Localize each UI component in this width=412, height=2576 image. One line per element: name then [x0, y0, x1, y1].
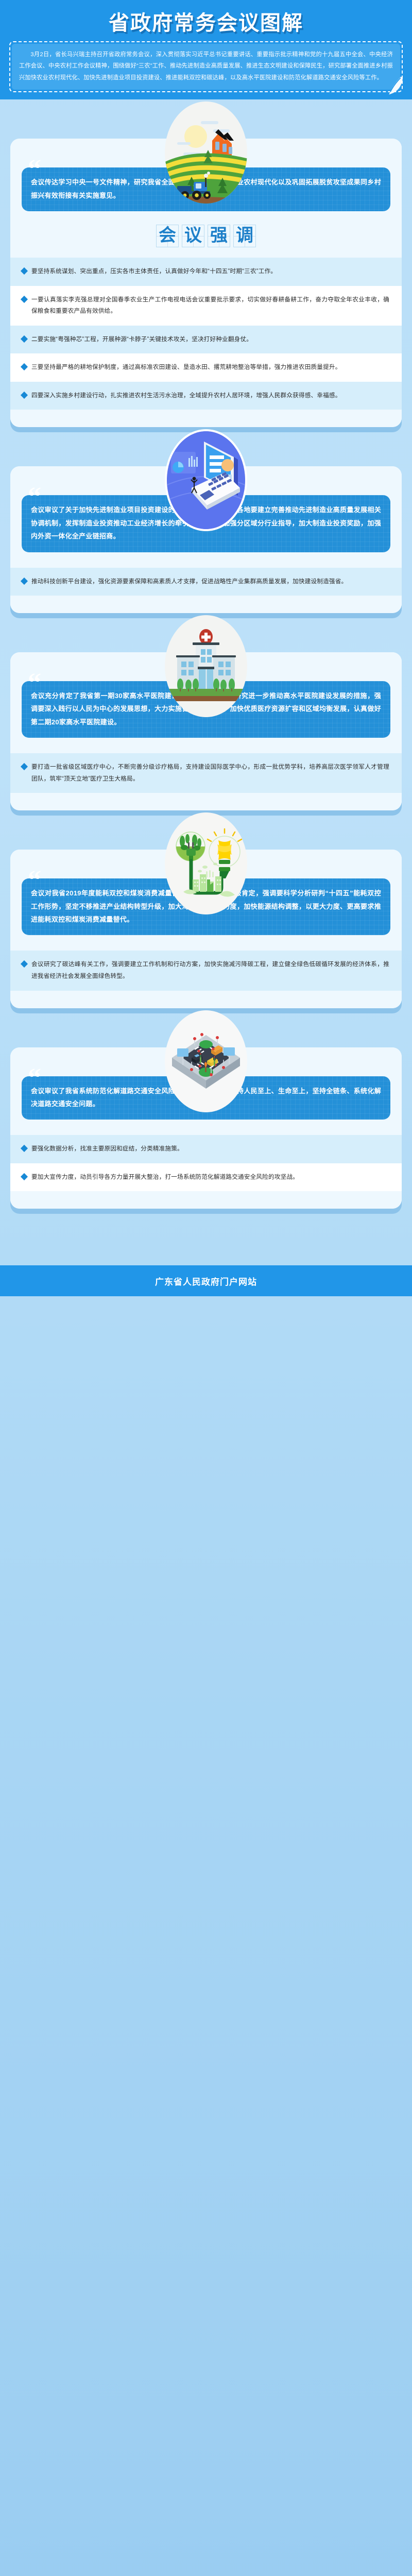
section-heading-calligraphy: 会 议 强 调 — [10, 211, 402, 258]
quote-gap — [10, 738, 402, 753]
diamond-bullet-icon — [21, 363, 28, 370]
list-item-text: 要加大宣传力度，动员引导各方力量开展大整治，打一场系统防范化解道路交通安全风险的… — [31, 1172, 299, 1183]
quote-mark-icon: “ — [28, 484, 41, 511]
road-intersection-traffic-illustration — [162, 1008, 250, 1114]
list-item: 推动科技创新平台建设，强化资源要素保障和高素质人才支撑，促进战略性产业集群高质量… — [10, 568, 402, 596]
list-item-text: 一要认真落实李克强总理对全国春季农业生产工作电视电话会议重要批示要求，切实做好春… — [31, 294, 389, 317]
list-item-text: 会议研究了碳达峰有关工作，强调要建立工作机制和行动方案，加快实施减污降碳工程，建… — [31, 959, 389, 982]
diamond-bullet-icon — [21, 392, 28, 399]
heading-glyph: 调 — [233, 225, 256, 247]
list-item-text: 要强化数据分析，找准主要原因和症结，分类精准施策。 — [31, 1143, 183, 1155]
list-item: 四要深入实施乡村建设行动，扎实推进农村生活污水治理，全域提升农村人居环境，增强人… — [10, 382, 402, 410]
heading-glyph-char: 议 — [184, 227, 202, 245]
list-item-text: 要坚持系统谋划、突出重点，压实各市主体责任，认真做好今年和“十四五”时期“三农”… — [31, 266, 277, 278]
list-item: 要坚持系统谋划、突出重点，压实各市主体责任，认真做好今年和“十四五”时期“三农”… — [10, 258, 402, 286]
section-energy: “ 会议对我省2019年度能耗双控和煤炭消费减量替代工作成效给予积极肯定，强调要… — [10, 810, 402, 1008]
diamond-bullet-icon — [21, 267, 28, 275]
quote-mark-icon: “ — [28, 156, 41, 183]
list-item: 要强化数据分析，找准主要原因和症结，分类精准施策。 — [10, 1135, 402, 1163]
diamond-bullet-icon — [21, 577, 28, 584]
list-item: 会议研究了碳达峰有关工作，强调要建立工作机制和行动方案，加快实施减污降碳工程，建… — [10, 951, 402, 990]
list-item: 三要坚持最严格的耕地保护制度，通过高标准农田建设、垦造水田、撂荒耕地整治等举措，… — [10, 353, 402, 382]
diamond-bullet-icon — [21, 335, 28, 343]
section-manufacturing: “ 会议审议了关于加快先进制造业项目投资建设的若干政策措施，强调各地要建立完善推… — [10, 427, 402, 613]
list-item-text: 四要深入实施乡村建设行动，扎实推进农村生活污水治理，全域提升农村人居环境，增强人… — [31, 390, 341, 402]
list-item: 要打造一批省级区域医疗中心，不断完善分级诊疗格局，支持建设国际医学中心，形成一批… — [10, 753, 402, 793]
diamond-bullet-icon — [21, 763, 28, 770]
quote-mark-icon: “ — [28, 1065, 41, 1092]
footer: 广东省人民政府门户网站 — [0, 1265, 412, 1296]
card-spacer-bottom — [10, 1191, 402, 1209]
intro-panel: 3月2日，省长马兴瑞主持召开省政府常务会议，深入贯彻落实习近平总书记重要讲话、重… — [12, 44, 400, 90]
heading-glyph-char: 强 — [210, 227, 228, 245]
heading-glyph: 议 — [182, 225, 204, 247]
bullet-list: 会议研究了碳达峰有关工作，强调要建立工作机制和行动方案，加快实施减污降碳工程，建… — [10, 951, 402, 990]
quote-gap — [10, 1120, 402, 1135]
section-traffic: “ 会议审议了我省系统防范化解道路交通安全风险工作方案，强调要坚持人民至上、生命… — [10, 1008, 402, 1209]
bullet-list: 要强化数据分析，找准主要原因和症结，分类精准施策。 要加大宣传力度，动员引导各方… — [10, 1135, 402, 1191]
diamond-bullet-icon — [21, 1145, 28, 1152]
page-title: 省政府常务会议图解 — [0, 8, 412, 41]
list-item-text: 三要坚持最严格的耕地保护制度，通过高标准农田建设、垦造水田、撂荒耕地整治等举措，… — [31, 362, 341, 374]
quote-mark-icon: “ — [28, 867, 41, 894]
laptop-data-analytics-illustration — [162, 427, 250, 533]
bullet-list: 要打造一批省级区域医疗中心，不断完善分级诊疗格局，支持建设国际医学中心，形成一批… — [10, 753, 402, 793]
list-item: 二要实施“粤强种芯”工程，开展种源“卡脖子”关键技术攻关，坚决打好种业翻身仗。 — [10, 326, 402, 354]
infographic-page: 省政府常务会议图解 3月2日，省长马兴瑞主持召开省政府常务会议，深入贯彻落实习近… — [0, 0, 412, 2576]
card-spacer-bottom — [10, 410, 402, 427]
green-energy-plug-bulb-illustration — [162, 810, 250, 917]
bottom-spacer — [0, 1209, 412, 1265]
intro-text: 3月2日，省长马兴瑞主持召开省政府常务会议，深入贯彻落实习近平总书记重要讲话、重… — [19, 49, 393, 83]
heading-glyph-char: 调 — [236, 227, 253, 245]
intro-dashed-frame: 3月2日，省长马兴瑞主持召开省政府常务会议，深入贯彻落实习近平总书记重要讲话、重… — [9, 41, 403, 92]
hospital-building-illustration — [162, 613, 250, 719]
section-hospital: “ 会议充分肯定了我省第一期30家高水平医院建设取得的显著成效，研究进一步推动高… — [10, 613, 402, 810]
list-item-text: 要打造一批省级区域医疗中心，不断完善分级诊疗格局，支持建设国际医学中心，形成一批… — [31, 761, 389, 785]
heading-glyph-char: 会 — [159, 227, 176, 245]
list-item-text: 二要实施“粤强种芯”工程，开展种源“卡脖子”关键技术攻关，坚决打好种业翻身仗。 — [31, 334, 252, 346]
header: 省政府常务会议图解 3月2日，省长马兴瑞主持召开省政府常务会议，深入贯彻落实习近… — [0, 0, 412, 99]
farm-village-tractor-illustration — [162, 99, 250, 206]
quote-gap — [10, 935, 402, 951]
quote-gap — [10, 552, 402, 568]
quote-mark-icon: “ — [28, 670, 41, 697]
diamond-bullet-icon — [21, 295, 28, 302]
card-spacer-bottom — [10, 793, 402, 810]
diamond-bullet-icon — [21, 960, 28, 968]
section-rural: “ 会议传达学习中央一号文件精神，研究我省全面推进乡村振兴加快农业农村现代化以及… — [10, 99, 402, 427]
list-item: 一要认真落实李克强总理对全国春季农业生产工作电视电话会议重要批示要求，切实做好春… — [10, 286, 402, 326]
card-spacer-bottom — [10, 596, 402, 613]
diamond-bullet-icon — [21, 1173, 28, 1180]
heading-glyph: 强 — [208, 225, 230, 247]
bullet-list: 推动科技创新平台建设，强化资源要素保障和高素质人才支撑，促进战略性产业集群高质量… — [10, 568, 402, 596]
bullet-list: 要坚持系统谋划、突出重点，压实各市主体责任，认真做好今年和“十四五”时期“三农”… — [10, 258, 402, 410]
heading-glyph: 会 — [156, 225, 179, 247]
list-item-text: 推动科技创新平台建设，强化资源要素保障和高素质人才支撑，促进战略性产业集群高质量… — [31, 576, 347, 588]
card-spacer-bottom — [10, 991, 402, 1008]
list-item: 要加大宣传力度，动员引导各方力量开展大整治，打一场系统防范化解道路交通安全风险的… — [10, 1163, 402, 1192]
footer-site-name: 广东省人民政府门户网站 — [155, 1275, 257, 1287]
